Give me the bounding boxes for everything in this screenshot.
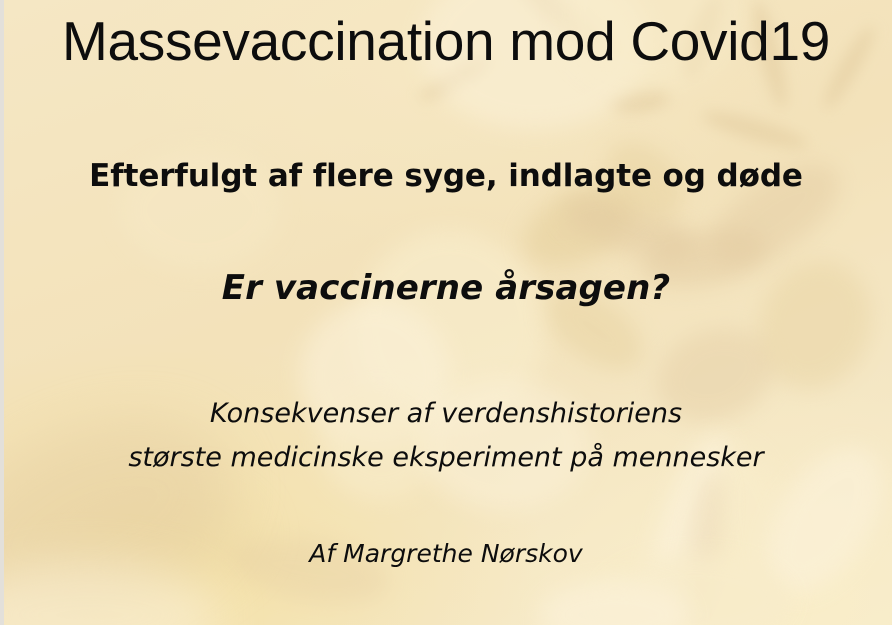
presentation-slide: Massevaccination mod Covid19 Efterfulgt … (0, 0, 892, 625)
slide-question: Er vaccinerne årsagen? (0, 270, 892, 306)
slide-title: Massevaccination mod Covid19 (0, 12, 892, 70)
slide-subtitle: Efterfulgt af flere syge, indlagte og dø… (0, 160, 892, 193)
slide-author: Af Margrethe Nørskov (0, 541, 892, 568)
left-edge-strip (0, 0, 4, 625)
slide-description: Konsekvenser af verdenshistoriens størst… (0, 392, 892, 479)
slide-description-line-2: største medicinske eksperiment på mennes… (0, 436, 892, 480)
slide-description-line-1: Konsekvenser af verdenshistoriens (0, 392, 892, 436)
slide-text-content: Massevaccination mod Covid19 Efterfulgt … (0, 0, 892, 625)
